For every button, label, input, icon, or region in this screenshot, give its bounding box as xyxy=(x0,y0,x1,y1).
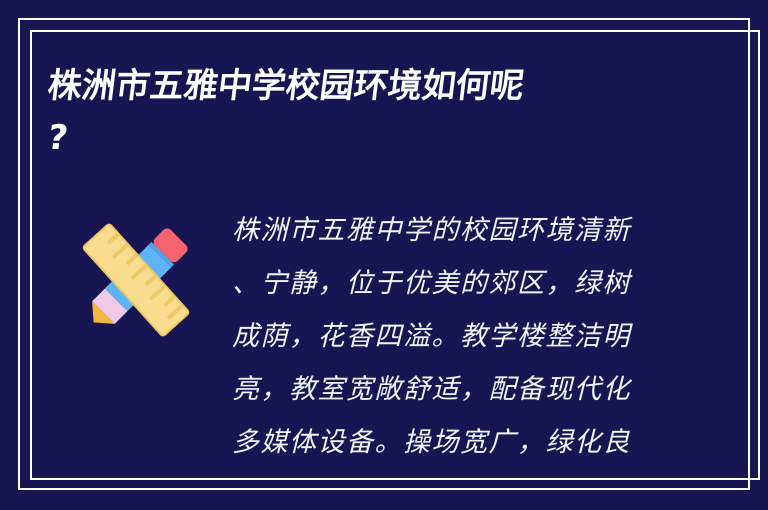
page-title: 株洲市五雅中学校园环境如何呢 ? xyxy=(48,60,708,164)
article-body: 株洲市五雅中学的校园环境清新 、宁静，位于优美的郊区，绿树 成荫，花香四溢。教学… xyxy=(232,204,656,469)
ruler-and-pencil-icon xyxy=(74,218,198,342)
article-line: 、宁静，位于优美的郊区，绿树 xyxy=(232,257,656,310)
title-line-2: ? xyxy=(45,112,711,164)
article-line: 株洲市五雅中学的校园环境清新 xyxy=(232,204,656,257)
article-line: 多媒体设备。操场宽广，绿化良 xyxy=(232,416,656,469)
article-line: 成荫，花香四溢。教学楼整洁明 xyxy=(232,310,656,363)
poster-canvas: 株洲市五雅中学校园环境如何呢 ? xyxy=(0,0,768,510)
title-line-1: 株洲市五雅中学校园环境如何呢 xyxy=(45,60,711,112)
article-line: 亮，教室宽敞舒适，配备现代化 xyxy=(232,363,656,416)
